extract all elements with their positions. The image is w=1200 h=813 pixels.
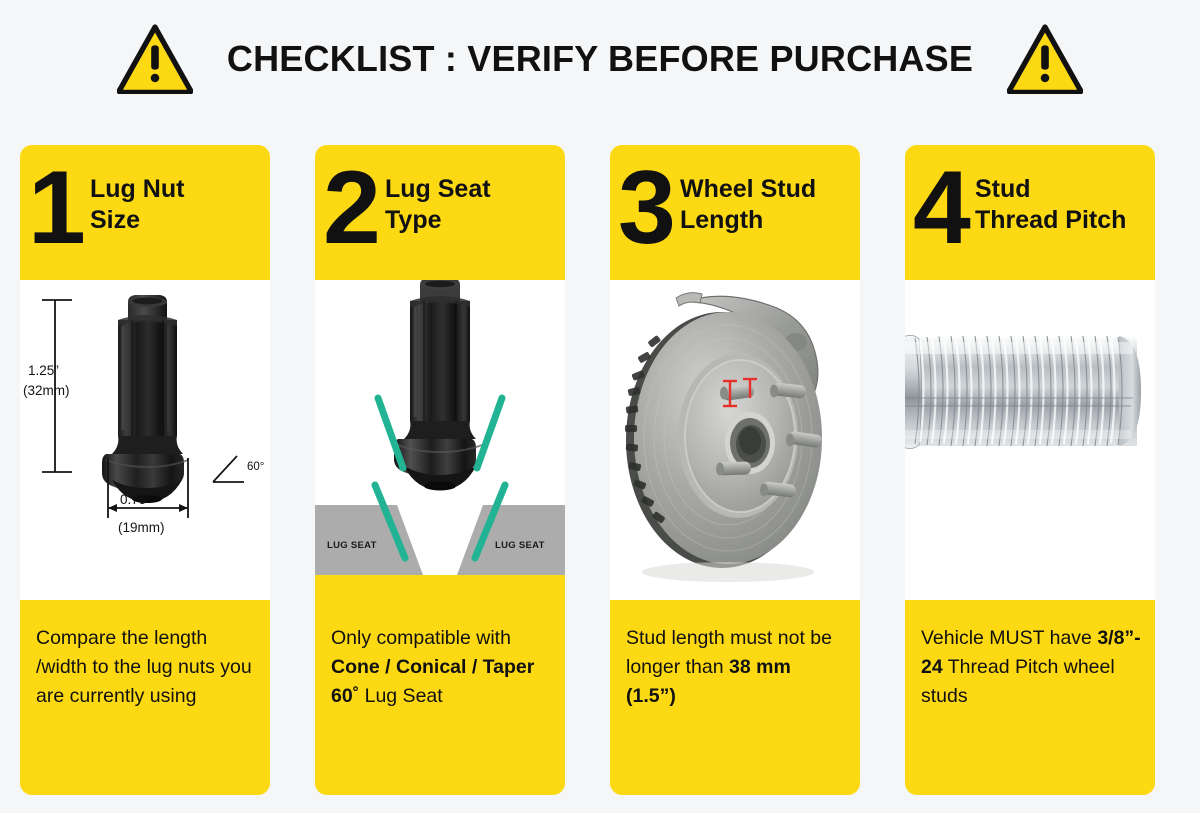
card-4-caption: Vehicle MUST have 3/8”- 24 Thread Pitch … xyxy=(905,600,1155,795)
card-2-figure: LUG SEAT LUG SEAT xyxy=(315,280,565,600)
page-header: CHECKLIST : VERIFY BEFORE PURCHASE xyxy=(0,0,1200,118)
angle-indicator: 60° xyxy=(213,456,264,482)
checklist-card-grid: 1 Lug Nut Size xyxy=(20,145,1200,795)
card-2-caption-text: Only compatible with Cone / Conical / Ta… xyxy=(331,627,534,707)
card-3-figure xyxy=(610,280,860,600)
card-1-title-line1: Lug Nut xyxy=(90,174,184,205)
height-inch-label: 1.25” xyxy=(28,363,59,378)
card-4-title-line1: Stud xyxy=(975,174,1126,205)
card-3-header: 3 Wheel Stud Length xyxy=(610,145,860,280)
angle-label: 60° xyxy=(247,461,264,473)
checklist-card-4: 4 Stud Thread Pitch xyxy=(905,145,1155,795)
card-3-number: 3 xyxy=(618,161,680,257)
width-inch-label: 0.75” xyxy=(120,492,151,507)
card-3-title-line2: Length xyxy=(680,205,816,236)
checklist-card-2: 2 Lug Seat Type xyxy=(315,145,565,795)
width-mm-label: (19mm) xyxy=(118,520,165,535)
card-2-caption: Only compatible with Cone / Conical / Ta… xyxy=(315,600,565,795)
lug-seat-label-left: LUG SEAT xyxy=(327,540,377,551)
checklist-card-1: 1 Lug Nut Size xyxy=(20,145,270,795)
card-3-caption: Stud length must not be longer than 38 m… xyxy=(610,600,860,795)
card-3-caption-text: Stud length must not be longer than 38 m… xyxy=(626,627,832,707)
card-1-figure: 1.25” (32mm) xyxy=(20,280,270,600)
card-1-title-line2: Size xyxy=(90,205,184,236)
card-1-caption: Compare the length /width to the lug nut… xyxy=(20,600,270,795)
card-4-figure xyxy=(905,280,1155,600)
card-4-title-line2: Thread Pitch xyxy=(975,205,1126,236)
lug-nut-cone-graphic xyxy=(394,280,482,491)
page-title: CHECKLIST : VERIFY BEFORE PURCHASE xyxy=(227,38,973,80)
card-2-header: 2 Lug Seat Type xyxy=(315,145,565,280)
card-4-caption-text: Vehicle MUST have 3/8”- 24 Thread Pitch … xyxy=(921,627,1141,707)
card-2-title-line2: Type xyxy=(385,205,491,236)
warning-triangle-icon xyxy=(1007,24,1083,94)
card-2-number: 2 xyxy=(323,161,385,257)
warning-triangle-icon xyxy=(117,24,193,94)
card-1-caption-text: Compare the length /width to the lug nut… xyxy=(36,627,252,707)
card-1-header: 1 Lug Nut Size xyxy=(20,145,270,280)
card-2-title: Lug Seat Type xyxy=(385,161,491,235)
lug-seat-label-right: LUG SEAT xyxy=(495,540,545,551)
card-3-title-line1: Wheel Stud xyxy=(680,174,816,205)
card-1-title: Lug Nut Size xyxy=(90,161,184,235)
card-3-title: Wheel Stud Length xyxy=(680,161,816,235)
lug-nut-graphic xyxy=(102,295,188,503)
card-4-header: 4 Stud Thread Pitch xyxy=(905,145,1155,280)
height-mm-label: (32mm) xyxy=(23,383,70,398)
card-2-title-line1: Lug Seat xyxy=(385,174,491,205)
card-1-number: 1 xyxy=(28,161,90,257)
card-4-number: 4 xyxy=(913,161,975,257)
card-4-title: Stud Thread Pitch xyxy=(975,161,1126,235)
checklist-card-3: 3 Wheel Stud Length xyxy=(610,145,860,795)
seat-base-strip xyxy=(315,575,565,600)
